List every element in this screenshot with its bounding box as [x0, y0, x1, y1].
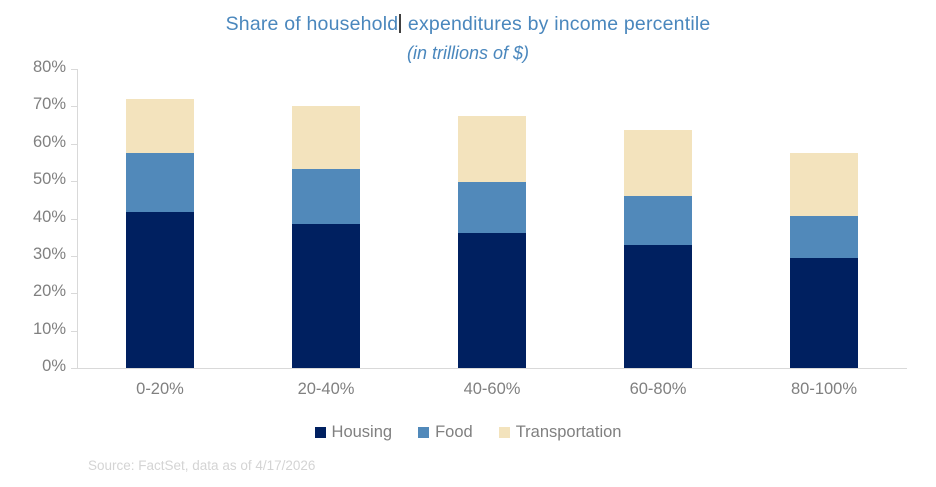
x-axis-category-label: 60-80% [575, 380, 741, 399]
legend-label: Transportation [516, 423, 622, 442]
bar-segment-housing[interactable] [292, 224, 360, 368]
bar-segment-food[interactable] [292, 169, 360, 224]
stacked-bar[interactable] [624, 130, 692, 368]
bar-segment-transportation[interactable] [458, 116, 526, 181]
legend-swatch-housing [315, 427, 326, 438]
bar-segment-housing[interactable] [126, 212, 194, 368]
chart-title-text-after-caret: expenditures by income percentile [402, 13, 710, 35]
bar-segment-housing[interactable] [624, 245, 692, 368]
bar-category-group: 20-40% [243, 69, 409, 368]
plot-area: 0-20%20-40%40-60%60-80%80-100% [77, 69, 907, 368]
y-axis-labels: 80%70%60%50%40%30%20%10%0% [0, 0, 66, 487]
stacked-bar[interactable] [126, 99, 194, 368]
bar-category-group: 80-100% [741, 69, 907, 368]
bar-category-group: 0-20% [77, 69, 243, 368]
stacked-bar[interactable] [458, 116, 526, 368]
bar-category-group: 40-60% [409, 69, 575, 368]
stacked-bar[interactable] [292, 106, 360, 368]
x-axis-baseline [77, 368, 907, 369]
y-axis-tick-label: 20% [8, 282, 66, 301]
bar-segment-food[interactable] [790, 216, 858, 259]
chart-title[interactable]: Share of household expenditures by incom… [0, 13, 936, 36]
bar-segment-food[interactable] [126, 153, 194, 212]
legend-item-housing[interactable]: Housing [315, 423, 393, 442]
y-axis-tick-label: 60% [8, 133, 66, 152]
chart-title-text-before-caret: Share of household [226, 13, 399, 35]
bar-category-group: 60-80% [575, 69, 741, 368]
y-axis-tick-label: 30% [8, 245, 66, 264]
y-axis-tick-label: 40% [8, 208, 66, 227]
y-axis-tick-label: 10% [8, 320, 66, 339]
x-axis-category-label: 40-60% [409, 380, 575, 399]
x-axis-category-label: 20-40% [243, 380, 409, 399]
bar-segment-transportation[interactable] [624, 130, 692, 197]
y-axis-tick-label: 70% [8, 95, 66, 114]
chart-legend: HousingFoodTransportation [0, 423, 936, 442]
x-axis-category-label: 0-20% [77, 380, 243, 399]
source-note: Source: FactSet, data as of 4/17/2026 [88, 458, 315, 473]
legend-item-transportation[interactable]: Transportation [499, 423, 622, 442]
chart-container: Share of household expenditures by incom… [0, 0, 936, 487]
bar-segment-transportation[interactable] [790, 153, 858, 215]
y-axis-tick-label: 0% [8, 357, 66, 376]
x-axis-category-label: 80-100% [741, 380, 907, 399]
chart-subtitle[interactable]: (in trillions of $) [0, 43, 936, 64]
y-axis-tick-label: 80% [8, 58, 66, 77]
legend-label: Housing [332, 423, 393, 442]
bar-segment-transportation[interactable] [126, 99, 194, 153]
legend-swatch-food [418, 427, 429, 438]
bar-segment-food[interactable] [624, 196, 692, 245]
bar-segment-transportation[interactable] [292, 106, 360, 168]
legend-label: Food [435, 423, 473, 442]
bar-segment-housing[interactable] [458, 233, 526, 368]
legend-swatch-transportation [499, 427, 510, 438]
stacked-bar[interactable] [790, 153, 858, 368]
bar-segment-food[interactable] [458, 182, 526, 233]
bar-segment-housing[interactable] [790, 258, 858, 368]
text-cursor-caret [399, 14, 401, 33]
legend-item-food[interactable]: Food [418, 423, 473, 442]
y-axis-tick-label: 50% [8, 170, 66, 189]
